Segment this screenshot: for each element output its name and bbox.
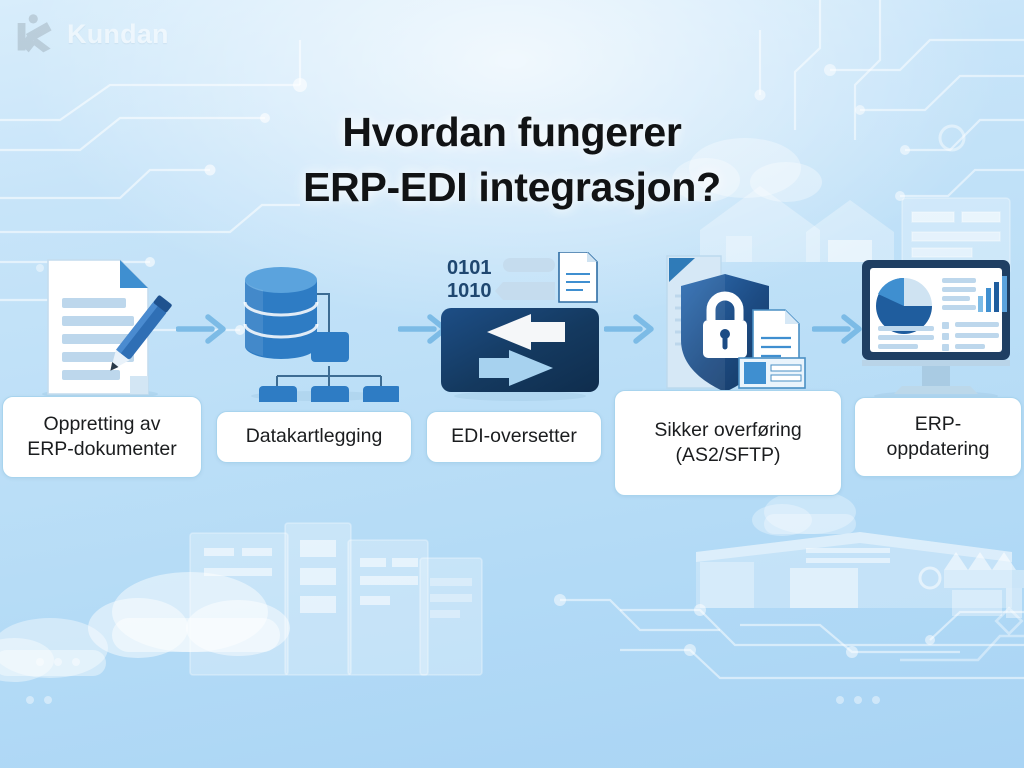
step-2-icon — [234, 252, 402, 402]
step-5-icon — [848, 252, 1024, 402]
step-1-label-line-2: ERP-dokumenter — [27, 438, 177, 460]
arrow-1-icon — [176, 312, 228, 346]
database-hierarchy-icon — [237, 254, 399, 402]
monitor-dashboard-icon — [852, 254, 1020, 402]
step-3-icon: 0101 1010 — [432, 252, 608, 402]
step-4-label[interactable]: Sikker overføring (AS2/SFTP) — [614, 390, 842, 496]
process-step-labels: Oppretting av ERP-dokumenter Datakartleg… — [0, 396, 1024, 516]
step-3-label[interactable]: EDI-oversetter — [426, 411, 602, 463]
binary-top-text: 0101 — [447, 257, 492, 279]
step-4-icon — [640, 252, 816, 402]
binary-bottom-text: 1010 — [447, 280, 492, 302]
step-4-label-line-2: (AS2/SFTP) — [675, 444, 780, 466]
step-5-label[interactable]: ERP- oppdatering — [854, 397, 1022, 477]
step-2-label[interactable]: Datakartlegging — [216, 411, 412, 463]
brand-logo: Kundan — [14, 12, 169, 56]
process-flow-icons: 0101 1010 — [0, 252, 1024, 412]
brand-name: Kundan — [67, 19, 169, 50]
title-line-1: Hvordan fungerer — [342, 109, 681, 155]
step-4-label-line-1: Sikker overføring — [654, 419, 801, 441]
infographic-canvas: Kundan Hvordan fungerer ERP-EDI integras… — [0, 0, 1024, 768]
step-1-label-line-1: Oppretting av — [43, 413, 160, 435]
kundan-k-person-logo-icon — [14, 12, 58, 56]
step-5-label-line-2: oppdatering — [886, 438, 989, 460]
step-3-label-line-1: EDI-oversetter — [451, 424, 577, 449]
step-1-label[interactable]: Oppretting av ERP-dokumenter — [2, 396, 202, 478]
document-with-pen-icon — [26, 254, 176, 402]
page-title: Hvordan fungerer ERP-EDI integrasjon? — [0, 105, 1024, 213]
step-2-label-line-1: Datakartlegging — [246, 424, 383, 449]
step-1-icon — [20, 252, 182, 402]
step-5-label-line-1: ERP- — [915, 413, 962, 435]
bidirectional-exchange-icon: 0101 1010 — [435, 252, 605, 402]
shield-lock-document-icon — [643, 252, 813, 402]
title-line-2: ERP-EDI integrasjon? — [0, 160, 1024, 214]
